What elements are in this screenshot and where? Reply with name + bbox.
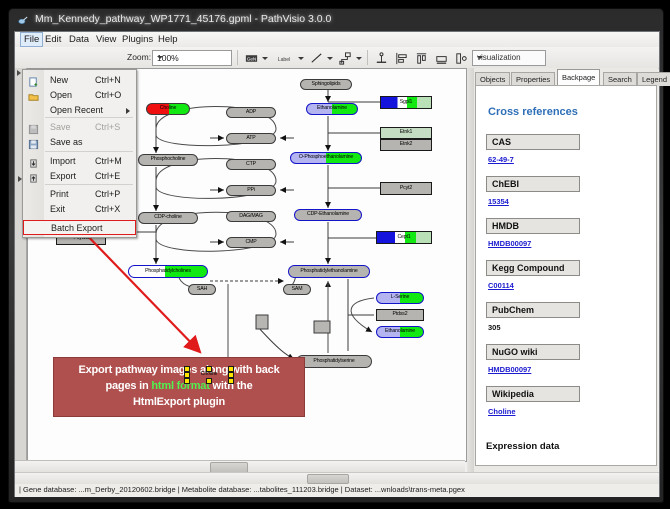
dock-grip-handle[interactable] [467, 68, 474, 472]
pathway-node-label: SAH [197, 287, 207, 292]
file-menu-popup[interactable]: NewCtrl+NOpenCtrl+OOpen RecentSaveCtrl+S… [22, 69, 137, 238]
menu-view[interactable]: View [93, 33, 119, 46]
xref-link[interactable]: HMDB00097 [488, 239, 531, 248]
menu-item-accelerator: Ctrl+E [95, 171, 120, 181]
pathway-node[interactable]: O-Phosphoethanolamine [290, 152, 362, 164]
zoom-label: Zoom: [127, 52, 151, 62]
pathway-node-label: Sphingolipids [312, 82, 341, 87]
pathway-node-label: Phosphatidylethanolamine [300, 269, 357, 274]
callout-line-1: Export pathway images along with back [54, 364, 304, 376]
chevron-down-icon [157, 56, 163, 59]
anchor-icon[interactable] [373, 50, 390, 67]
pathway-node-label: Choline [160, 106, 177, 111]
pathway-node-label: SAM [292, 287, 303, 292]
svg-text:Label: Label [278, 57, 291, 63]
tab-properties[interactable]: Properties [511, 72, 555, 86]
pathway-node-label: Cept1 [397, 235, 410, 240]
tab-objects[interactable]: Objects [475, 72, 510, 86]
menu-item-print[interactable]: PrintCtrl+P [23, 187, 136, 202]
visualization-value: visualization [477, 53, 521, 62]
datanode-icon[interactable]: GeN [243, 50, 260, 67]
screenshot-root: Mm_Kennedy_pathway_WP1771_45176.gpml - P… [0, 0, 670, 509]
expression-data-heading: Expression data [486, 441, 559, 452]
selection-handle[interactable] [206, 378, 212, 384]
dock-tabstrip: Objects Properties Backpage Search Legen… [475, 69, 658, 85]
label-icon[interactable]: Label [271, 50, 297, 67]
menu-item-new[interactable]: NewCtrl+N [23, 73, 136, 88]
title-bar[interactable]: Mm_Kennedy_pathway_WP1771_45176.gpml - P… [9, 9, 663, 31]
stack-icon[interactable] [453, 50, 470, 67]
pathway-node-label: Sgpl1 [400, 100, 413, 105]
menu-item-label: New [50, 75, 68, 85]
pathway-node-label: CMP [245, 240, 256, 245]
pathway-node[interactable]: DAG/MAG [226, 211, 276, 222]
pathway-node[interactable]: Phosphatidylethanolamine [288, 265, 370, 278]
svg-text:GeN: GeN [247, 56, 257, 61]
menu-item-label: Save as [50, 137, 83, 147]
pathway-node[interactable]: Phosphocholine [138, 154, 198, 166]
label-dropdown-icon[interactable] [296, 50, 306, 67]
pathway-node[interactable]: CDP-choline [138, 212, 198, 224]
visualization-combo[interactable]: visualization [472, 50, 546, 66]
selection-handle[interactable] [206, 366, 212, 372]
pathway-node[interactable]: CTP [226, 159, 276, 170]
menu-item-save: SaveCtrl+S [23, 120, 136, 135]
pathway-node-label: Phosphocholine [151, 157, 186, 162]
xref-name: HMDB [486, 218, 580, 234]
menu-item-accelerator: Ctrl+N [95, 75, 121, 85]
callout-highlight: html format [151, 380, 209, 392]
xref-link[interactable]: C00114 [488, 281, 514, 290]
interaction-dropdown-icon[interactable] [354, 50, 364, 67]
pathway-node-label: Etnk1 [400, 130, 413, 135]
backpage-panel[interactable]: Cross references CAS62-49-7ChEBI15354HMD… [475, 85, 657, 466]
callout-line-2: pages in html format with the [54, 380, 304, 392]
menu-item-accelerator: Ctrl+S [95, 122, 120, 132]
pathway-node[interactable]: Etnk1 [380, 127, 432, 139]
menu-item-export[interactable]: ExportCtrl+E [23, 169, 136, 184]
submenu-arrow-icon [126, 108, 130, 114]
menu-item-accelerator: Ctrl+P [95, 189, 120, 199]
tab-legend[interactable]: Legend [637, 72, 670, 86]
pathway-node[interactable]: PPi [226, 185, 276, 196]
pathway-node-label: Ethanolamine [317, 106, 347, 111]
pathway-node[interactable]: SAM [283, 284, 311, 295]
pathway-node[interactable]: CDP-Ethanolamine [294, 209, 362, 221]
menu-item-label: Save [50, 122, 71, 132]
menu-separator [45, 184, 133, 185]
menu-item-label: Export [50, 171, 76, 181]
pathway-node[interactable]: Pcyt2 [380, 182, 432, 195]
menu-item-accelerator: Ctrl+O [95, 90, 121, 100]
xref-name: PubChem [486, 302, 580, 318]
new-file-icon [28, 75, 39, 86]
pathway-node-label: CTP [246, 162, 256, 167]
pathway-node[interactable]: SAH [188, 284, 216, 295]
menu-separator [45, 117, 133, 118]
menu-item-accelerator: Ctrl+X [95, 204, 120, 214]
pathway-node-label: Phosphatidylcholines [145, 269, 191, 274]
xref-link[interactable]: 62-49-7 [488, 155, 514, 164]
pathway-node[interactable]: Sgpl1 [380, 96, 432, 109]
pathway-node-label: L-Serine [391, 295, 409, 300]
save-icon [28, 122, 39, 133]
menu-plugins[interactable]: Plugins [119, 33, 156, 46]
import-icon [28, 156, 39, 167]
pathway-node-label: ATP [246, 136, 255, 141]
save-as-icon [28, 137, 39, 148]
xref-value: 305 [488, 323, 501, 332]
pathway-node[interactable]: Etnk2 [380, 139, 432, 151]
pathway-node[interactable]: ADP [226, 107, 276, 118]
toolbar-separator [237, 50, 238, 65]
pathway-node-label: Pcyt2 [400, 186, 412, 191]
align-left-icon[interactable] [393, 50, 410, 67]
pathway-node-label: Ethanolamine [385, 329, 415, 334]
selection-handle[interactable] [228, 378, 234, 384]
status-text: | Gene database: ...m_Derby_20120602.bri… [19, 485, 465, 494]
status-bar: | Gene database: ...m_Derby_20120602.bri… [15, 472, 659, 496]
client-area: File Edit Data View Plugins Help Zoom: 1… [14, 31, 660, 497]
menu-item-batch-export[interactable]: Batch Export [23, 220, 136, 235]
pathway-node[interactable]: ATP [226, 133, 276, 144]
menu-item-label: Open [50, 90, 72, 100]
open-folder-icon [28, 90, 39, 101]
pathway-node-label: CDP-choline [154, 215, 181, 220]
zoom-combo[interactable]: 100% [152, 50, 232, 66]
menu-bar: File Edit Data View Plugins Help [15, 32, 659, 48]
window-title: Mm_Kennedy_pathway_WP1771_45176.gpml - P… [35, 13, 331, 25]
pathway-node[interactable]: Ptdss2 [376, 309, 424, 321]
menu-item-import[interactable]: ImportCtrl+M [23, 154, 136, 169]
menu-item-label: Exit [50, 204, 65, 214]
cross-references-heading: Cross references [488, 106, 578, 118]
xref-link[interactable]: 15354 [488, 197, 509, 206]
status-horizontal-scrollbar[interactable] [15, 472, 659, 484]
menu-separator [45, 151, 133, 152]
menu-item-save-as[interactable]: Save as [23, 135, 136, 150]
menu-item-open[interactable]: OpenCtrl+O [23, 88, 136, 103]
selection-handle[interactable] [184, 378, 190, 384]
pathway-node[interactable]: CMP [226, 237, 276, 248]
toolbar-separator-2 [367, 50, 368, 65]
menu-item-open-recent[interactable]: Open Recent [23, 103, 136, 118]
status-scrollbar-thumb[interactable] [307, 474, 349, 484]
tool-bar: Zoom: 100% GeN Label [15, 47, 659, 69]
pathvisio-app-icon [18, 15, 29, 26]
side-dock: Objects Properties Backpage Search Legen… [467, 68, 658, 472]
application-window: Mm_Kennedy_pathway_WP1771_45176.gpml - P… [8, 8, 664, 503]
tab-backpage[interactable]: Backpage [557, 69, 600, 86]
pathway-node[interactable]: Phosphatidylserine [296, 355, 372, 368]
menu-file[interactable]: File [20, 32, 43, 47]
pathway-node[interactable]: Choline [146, 103, 190, 115]
pathway-node[interactable]: Ethanolamine [306, 103, 358, 115]
xref-name: NuGO wiki [486, 344, 580, 360]
pathway-node[interactable]: Ethanolamine [376, 326, 424, 338]
pathway-node-label: ADP [246, 110, 256, 115]
pathway-node-label: Choline [201, 372, 218, 377]
pathway-node[interactable]: Phosphatidylcholines [128, 265, 208, 278]
menu-item-label: Print [50, 189, 69, 199]
xref-name: Wikipedia [486, 386, 580, 402]
pathway-node-label: CDP-Ethanolamine [307, 212, 349, 217]
menu-data[interactable]: Data [66, 33, 92, 46]
xref-link[interactable]: Choline [488, 407, 516, 416]
pathway-node[interactable]: Cept1 [376, 231, 432, 244]
interaction-icon[interactable] [337, 50, 354, 67]
pathway-node-label: Ptdss2 [393, 312, 408, 317]
xref-link[interactable]: HMDB00097 [488, 365, 531, 374]
line-icon[interactable] [308, 50, 325, 67]
chevron-down-icon-2 [477, 56, 483, 59]
menu-item-exit[interactable]: ExitCtrl+X [23, 202, 136, 217]
menu-item-accelerator: Ctrl+M [95, 156, 122, 166]
pathway-node-label: O-Phosphoethanolamine [299, 155, 353, 160]
export-icon [28, 171, 39, 182]
datanode-dropdown-icon[interactable] [260, 50, 270, 67]
pathway-node-label: PPi [247, 188, 255, 193]
menu-item-label: Open Recent [50, 105, 103, 115]
xref-name: CAS [486, 134, 580, 150]
menu-edit[interactable]: Edit [42, 33, 64, 46]
annotation-callout: Export pathway images along with back pa… [53, 357, 305, 417]
menu-item-label: Import [50, 156, 76, 166]
callout-line-3: HtmlExport plugin [54, 396, 304, 408]
xref-name: Kegg Compound [486, 260, 580, 276]
line-dropdown-icon[interactable] [325, 50, 335, 67]
pathway-node-label: DAG/MAG [239, 214, 262, 219]
pathway-node-label: Phosphatidylserine [313, 359, 354, 364]
group-icon[interactable] [433, 50, 450, 67]
pathway-node[interactable]: L-Serine [376, 292, 424, 304]
align-top-icon[interactable] [413, 50, 430, 67]
pathway-node-label: Etnk2 [400, 142, 413, 147]
tab-search[interactable]: Search [603, 72, 637, 86]
callout-line-2-a: pages in [105, 380, 151, 392]
menu-item-label: Batch Export [51, 223, 103, 233]
menu-help[interactable]: Help [155, 33, 181, 46]
pathway-node[interactable]: Sphingolipids [300, 79, 352, 90]
xref-name: ChEBI [486, 176, 580, 192]
